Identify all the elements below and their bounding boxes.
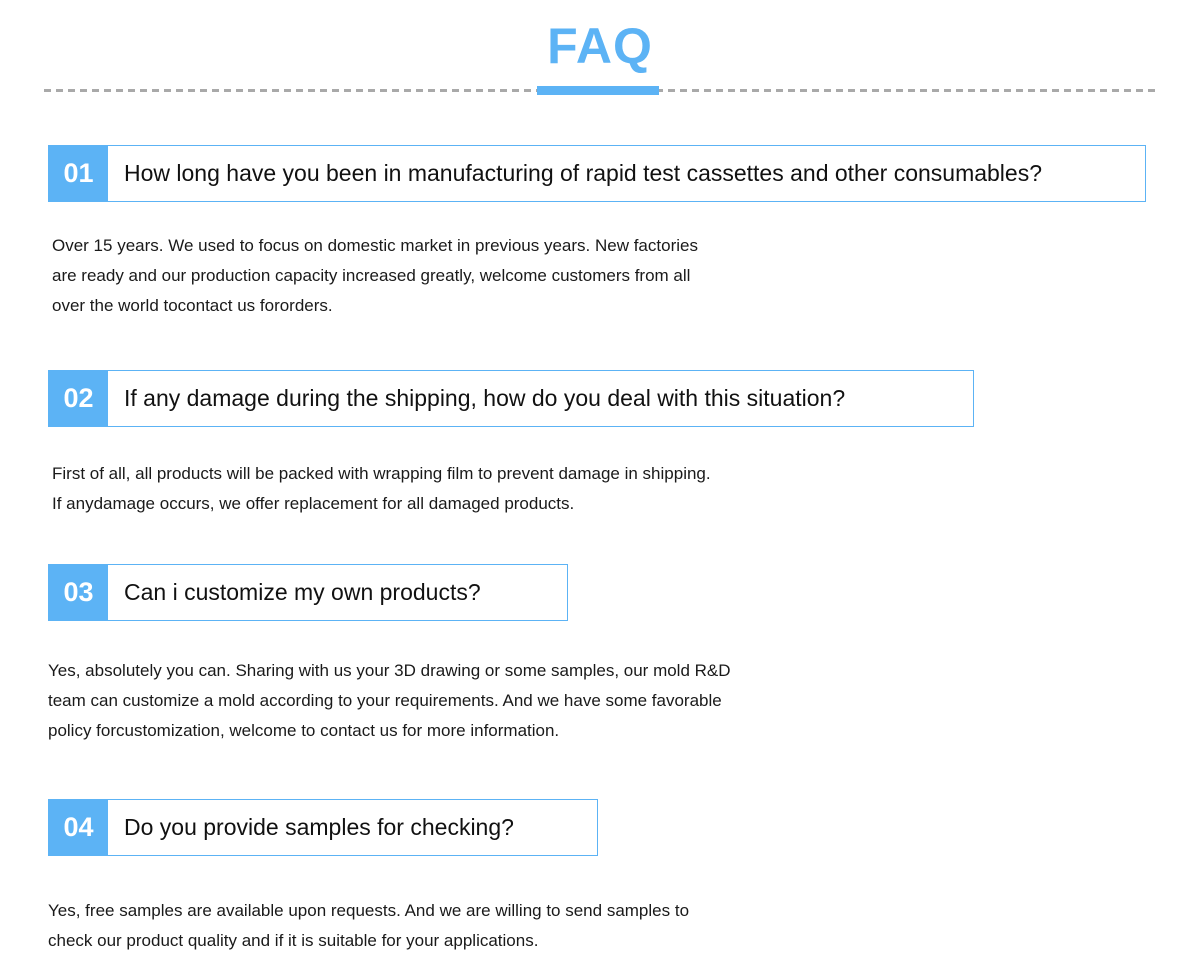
page-title: FAQ (0, 16, 1200, 76)
faq-answer-text: Yes, free samples are available upon req… (48, 896, 1200, 956)
faq-question-row[interactable]: 02 If any damage during the shipping, ho… (48, 370, 974, 427)
faq-question-row[interactable]: 01 How long have you been in manufacturi… (48, 145, 1146, 202)
faq-number-badge: 01 (49, 146, 108, 201)
faq-question-row[interactable]: 03 Can i customize my own products? (48, 564, 568, 621)
faq-question-label: How long have you been in manufacturing … (108, 146, 1145, 201)
faq-answer-text: First of all, all products will be packe… (52, 459, 1200, 519)
faq-question-label: If any damage during the shipping, how d… (108, 371, 973, 426)
header-divider (44, 86, 1156, 96)
page-header: FAQ (0, 0, 1200, 102)
faq-question-row[interactable]: 04 Do you provide samples for checking? (48, 799, 598, 856)
faq-item: 04 Do you provide samples for checking? … (0, 799, 1200, 956)
faq-number-badge: 02 (49, 371, 108, 426)
faq-question-label: Can i customize my own products? (108, 565, 567, 620)
faq-number-badge: 04 (49, 800, 108, 855)
faq-list: 01 How long have you been in manufacturi… (0, 145, 1200, 956)
faq-answer-text: Yes, absolutely you can. Sharing with us… (48, 656, 1200, 746)
faq-number-badge: 03 (49, 565, 108, 620)
faq-answer-text: Over 15 years. We used to focus on domes… (52, 231, 1200, 321)
faq-item: 01 How long have you been in manufacturi… (0, 145, 1200, 321)
faq-item: 02 If any damage during the shipping, ho… (0, 370, 1200, 519)
divider-accent-bar (537, 86, 659, 95)
faq-question-label: Do you provide samples for checking? (108, 800, 597, 855)
faq-item: 03 Can i customize my own products? Yes,… (0, 564, 1200, 746)
